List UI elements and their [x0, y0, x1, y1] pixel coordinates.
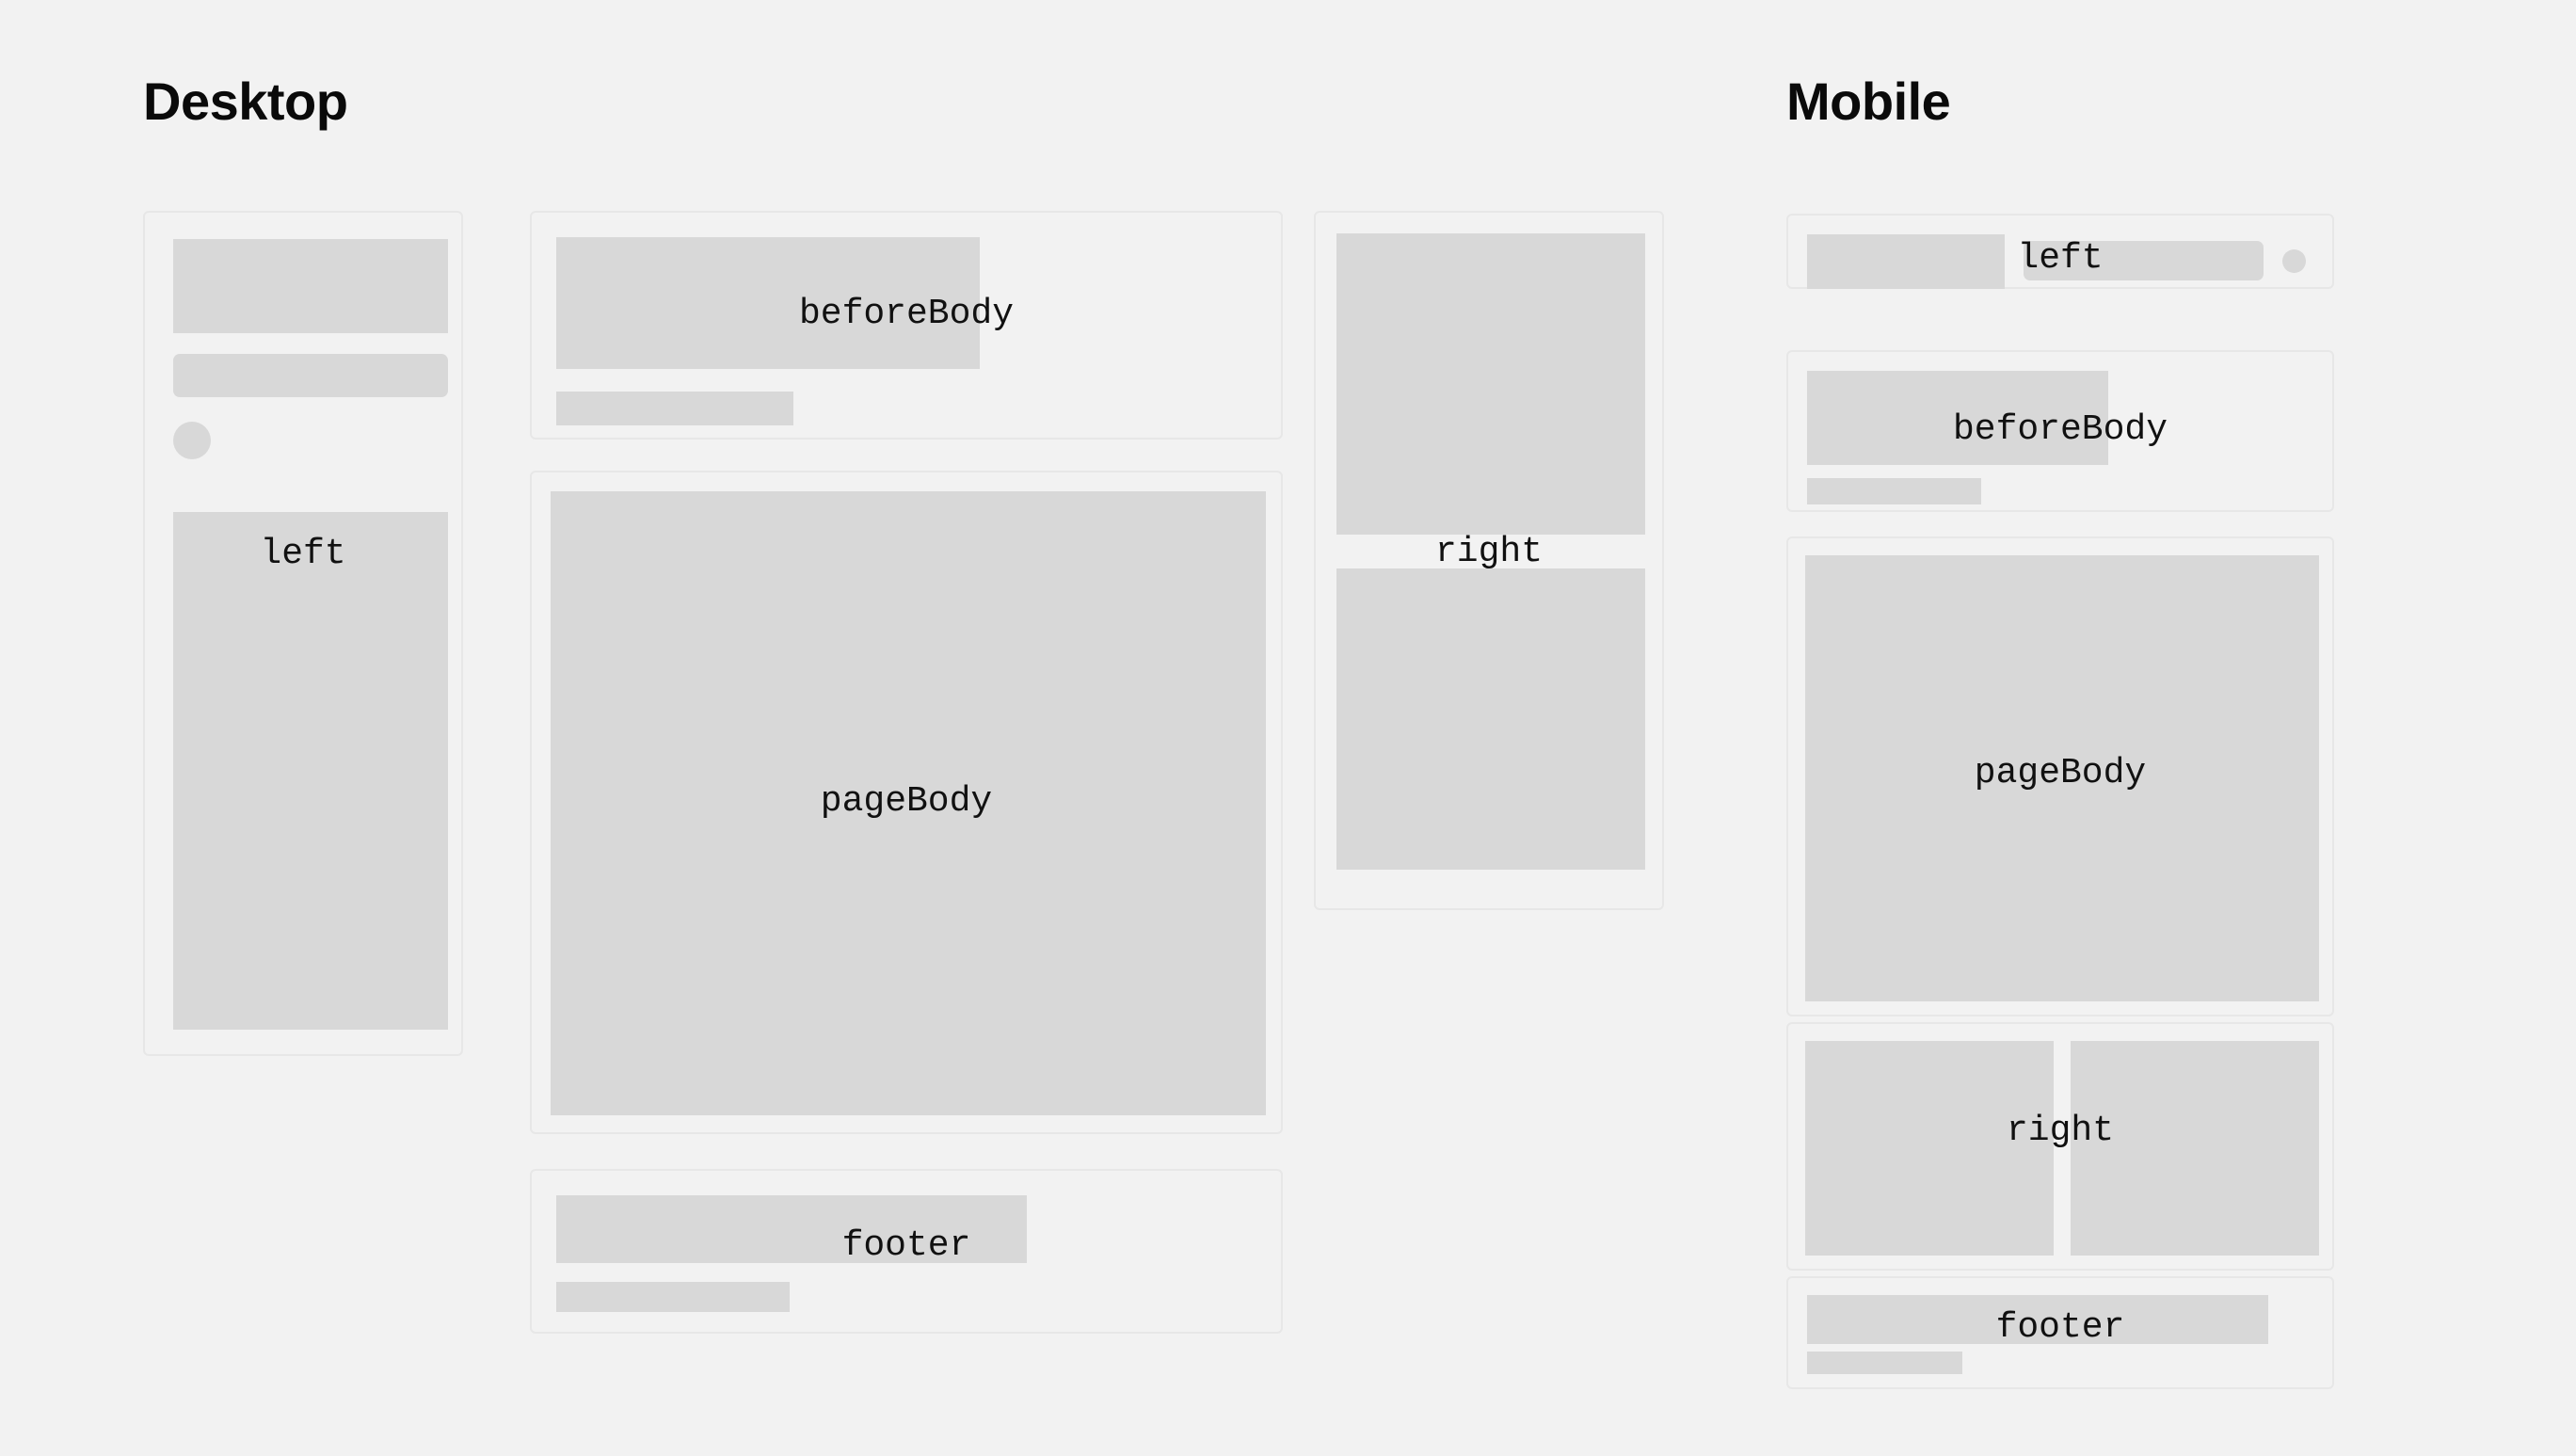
placeholder-block	[1336, 568, 1645, 870]
desktop-section-heading: Desktop	[143, 75, 347, 128]
placeholder-bar	[556, 1282, 790, 1312]
placeholder-avatar-circle	[2282, 249, 2306, 273]
layout-preview-stage: Desktop left beforeBody pageBody footer …	[0, 0, 2576, 1456]
placeholder-block	[173, 239, 448, 333]
placeholder-bar	[1807, 1295, 2268, 1344]
mobile-right-slot-panel[interactable]	[1786, 1022, 2334, 1271]
placeholder-block	[173, 512, 448, 1030]
placeholder-bar	[1807, 478, 1981, 504]
placeholder-block	[1805, 1041, 2054, 1256]
placeholder-block	[1807, 234, 2005, 289]
desktop-right-slot-panel[interactable]	[1314, 211, 1664, 910]
placeholder-bar	[556, 1195, 1027, 1263]
placeholder-block	[1336, 233, 1645, 535]
placeholder-block	[556, 237, 980, 369]
desktop-left-slot-panel[interactable]	[143, 211, 463, 1056]
desktop-footer-slot-panel[interactable]	[530, 1169, 1283, 1334]
placeholder-avatar-circle	[173, 422, 211, 459]
mobile-left-slot-panel[interactable]	[1786, 214, 2334, 289]
mobile-section-heading: Mobile	[1786, 75, 1950, 128]
mobile-footer-slot-panel[interactable]	[1786, 1276, 2334, 1389]
mobile-beforebody-slot-panel[interactable]	[1786, 350, 2334, 512]
desktop-beforebody-slot-panel[interactable]	[530, 211, 1283, 440]
placeholder-bar	[1807, 1352, 1962, 1374]
placeholder-bar	[2024, 241, 2264, 280]
mobile-pagebody-slot-panel[interactable]	[1786, 536, 2334, 1016]
placeholder-block	[551, 491, 1266, 1115]
placeholder-block	[1807, 371, 2108, 465]
placeholder-block	[2071, 1041, 2319, 1256]
placeholder-block	[1805, 555, 2319, 1001]
placeholder-bar	[556, 392, 793, 425]
placeholder-bar	[173, 354, 448, 397]
desktop-pagebody-slot-panel[interactable]	[530, 471, 1283, 1134]
